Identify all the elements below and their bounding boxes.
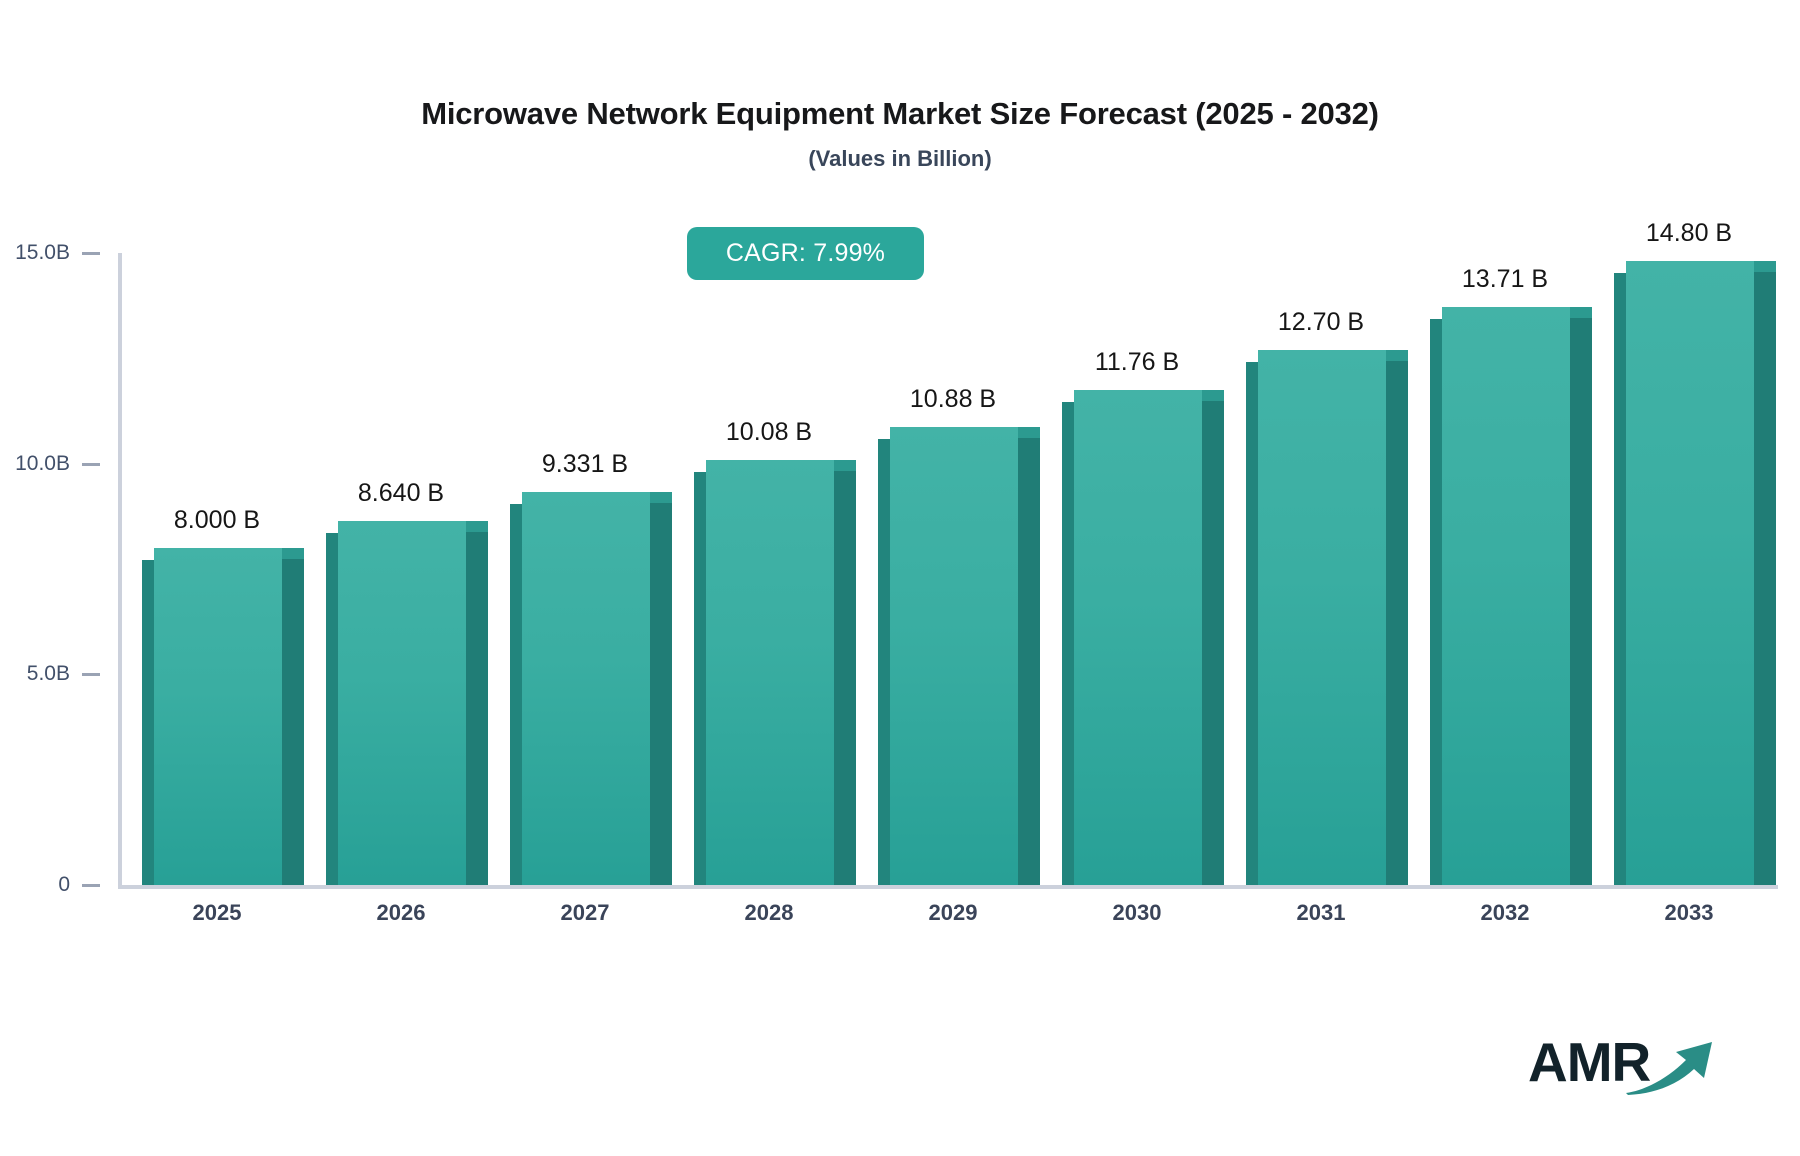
- y-axis-tick-mark: [82, 884, 100, 887]
- bar-side-face: [466, 531, 488, 885]
- y-axis-tick-label: 15.0B: [15, 242, 70, 264]
- bar: [878, 427, 1028, 885]
- x-axis-line: [118, 885, 1778, 889]
- y-axis-tick-label: 0: [58, 874, 70, 896]
- bar: [1246, 350, 1396, 885]
- bar-value-label: 13.71 B: [1390, 265, 1620, 294]
- bar-side-face: [650, 502, 672, 885]
- y-axis-tick: 0: [0, 874, 100, 896]
- bar-top-chamfer: [1202, 390, 1224, 401]
- bar-side-face: [1754, 271, 1776, 885]
- chart-canvas: Microwave Network Equipment Market Size …: [0, 0, 1800, 1156]
- bar-side-face: [1202, 400, 1224, 885]
- bar-side-face: [282, 558, 304, 885]
- y-axis-tick: 10.0B: [0, 453, 100, 475]
- bar-front-face: [1258, 350, 1386, 885]
- y-axis-tick: 15.0B: [0, 242, 100, 264]
- bar-side-face: [1570, 317, 1592, 885]
- y-axis-tick-mark: [82, 673, 100, 676]
- bar-front-face: [1074, 390, 1202, 885]
- bar-front-face: [522, 492, 650, 885]
- bar-top-chamfer: [1754, 261, 1776, 272]
- bar-value-label: 10.88 B: [838, 385, 1068, 414]
- y-axis-tick: 5.0B: [0, 663, 100, 685]
- bar-side-face: [834, 470, 856, 885]
- bar-value-label: 14.80 B: [1574, 219, 1800, 248]
- bar: [1062, 390, 1212, 885]
- y-axis-line: [118, 253, 122, 885]
- bar-front-face: [890, 427, 1018, 885]
- bar-side-face: [1018, 437, 1040, 885]
- bar-top-chamfer: [1386, 350, 1408, 361]
- plot-area: 15.0B10.0B5.0B0 8.000 B8.640 B9.331 B10.…: [0, 0, 1800, 1156]
- bar: [510, 492, 660, 885]
- amr-logo: AMR: [1528, 1030, 1718, 1100]
- bar-front-face: [1442, 307, 1570, 885]
- bar-front-face: [154, 548, 282, 885]
- bar-top-chamfer: [282, 548, 304, 559]
- bar-top-chamfer: [466, 521, 488, 532]
- x-axis-tick-label: 2033: [1574, 900, 1800, 926]
- y-axis-tick-label: 10.0B: [15, 453, 70, 475]
- bar-top-chamfer: [1570, 307, 1592, 318]
- bar-value-label: 8.000 B: [102, 506, 332, 535]
- bar-top-chamfer: [1018, 427, 1040, 438]
- bar: [142, 548, 292, 885]
- bar: [1430, 307, 1580, 885]
- bar-side-face: [1386, 360, 1408, 885]
- bar-value-label: 11.76 B: [1022, 348, 1252, 377]
- bar: [326, 521, 476, 885]
- bar: [694, 460, 844, 885]
- y-axis-tick-mark: [82, 252, 100, 255]
- bar-value-label: 12.70 B: [1206, 308, 1436, 337]
- bar-value-label: 8.640 B: [286, 479, 516, 508]
- bar-value-label: 10.08 B: [654, 418, 884, 447]
- rising-arrow-icon: [1624, 1038, 1716, 1096]
- y-axis-tick-mark: [82, 463, 100, 466]
- bar-top-chamfer: [834, 460, 856, 471]
- y-axis-tick-label: 5.0B: [27, 663, 70, 685]
- bar-top-chamfer: [650, 492, 672, 503]
- bar-front-face: [338, 521, 466, 885]
- bar: [1614, 261, 1764, 885]
- bar-front-face: [706, 460, 834, 885]
- bar-front-face: [1626, 261, 1754, 885]
- bar-value-label: 9.331 B: [470, 450, 700, 479]
